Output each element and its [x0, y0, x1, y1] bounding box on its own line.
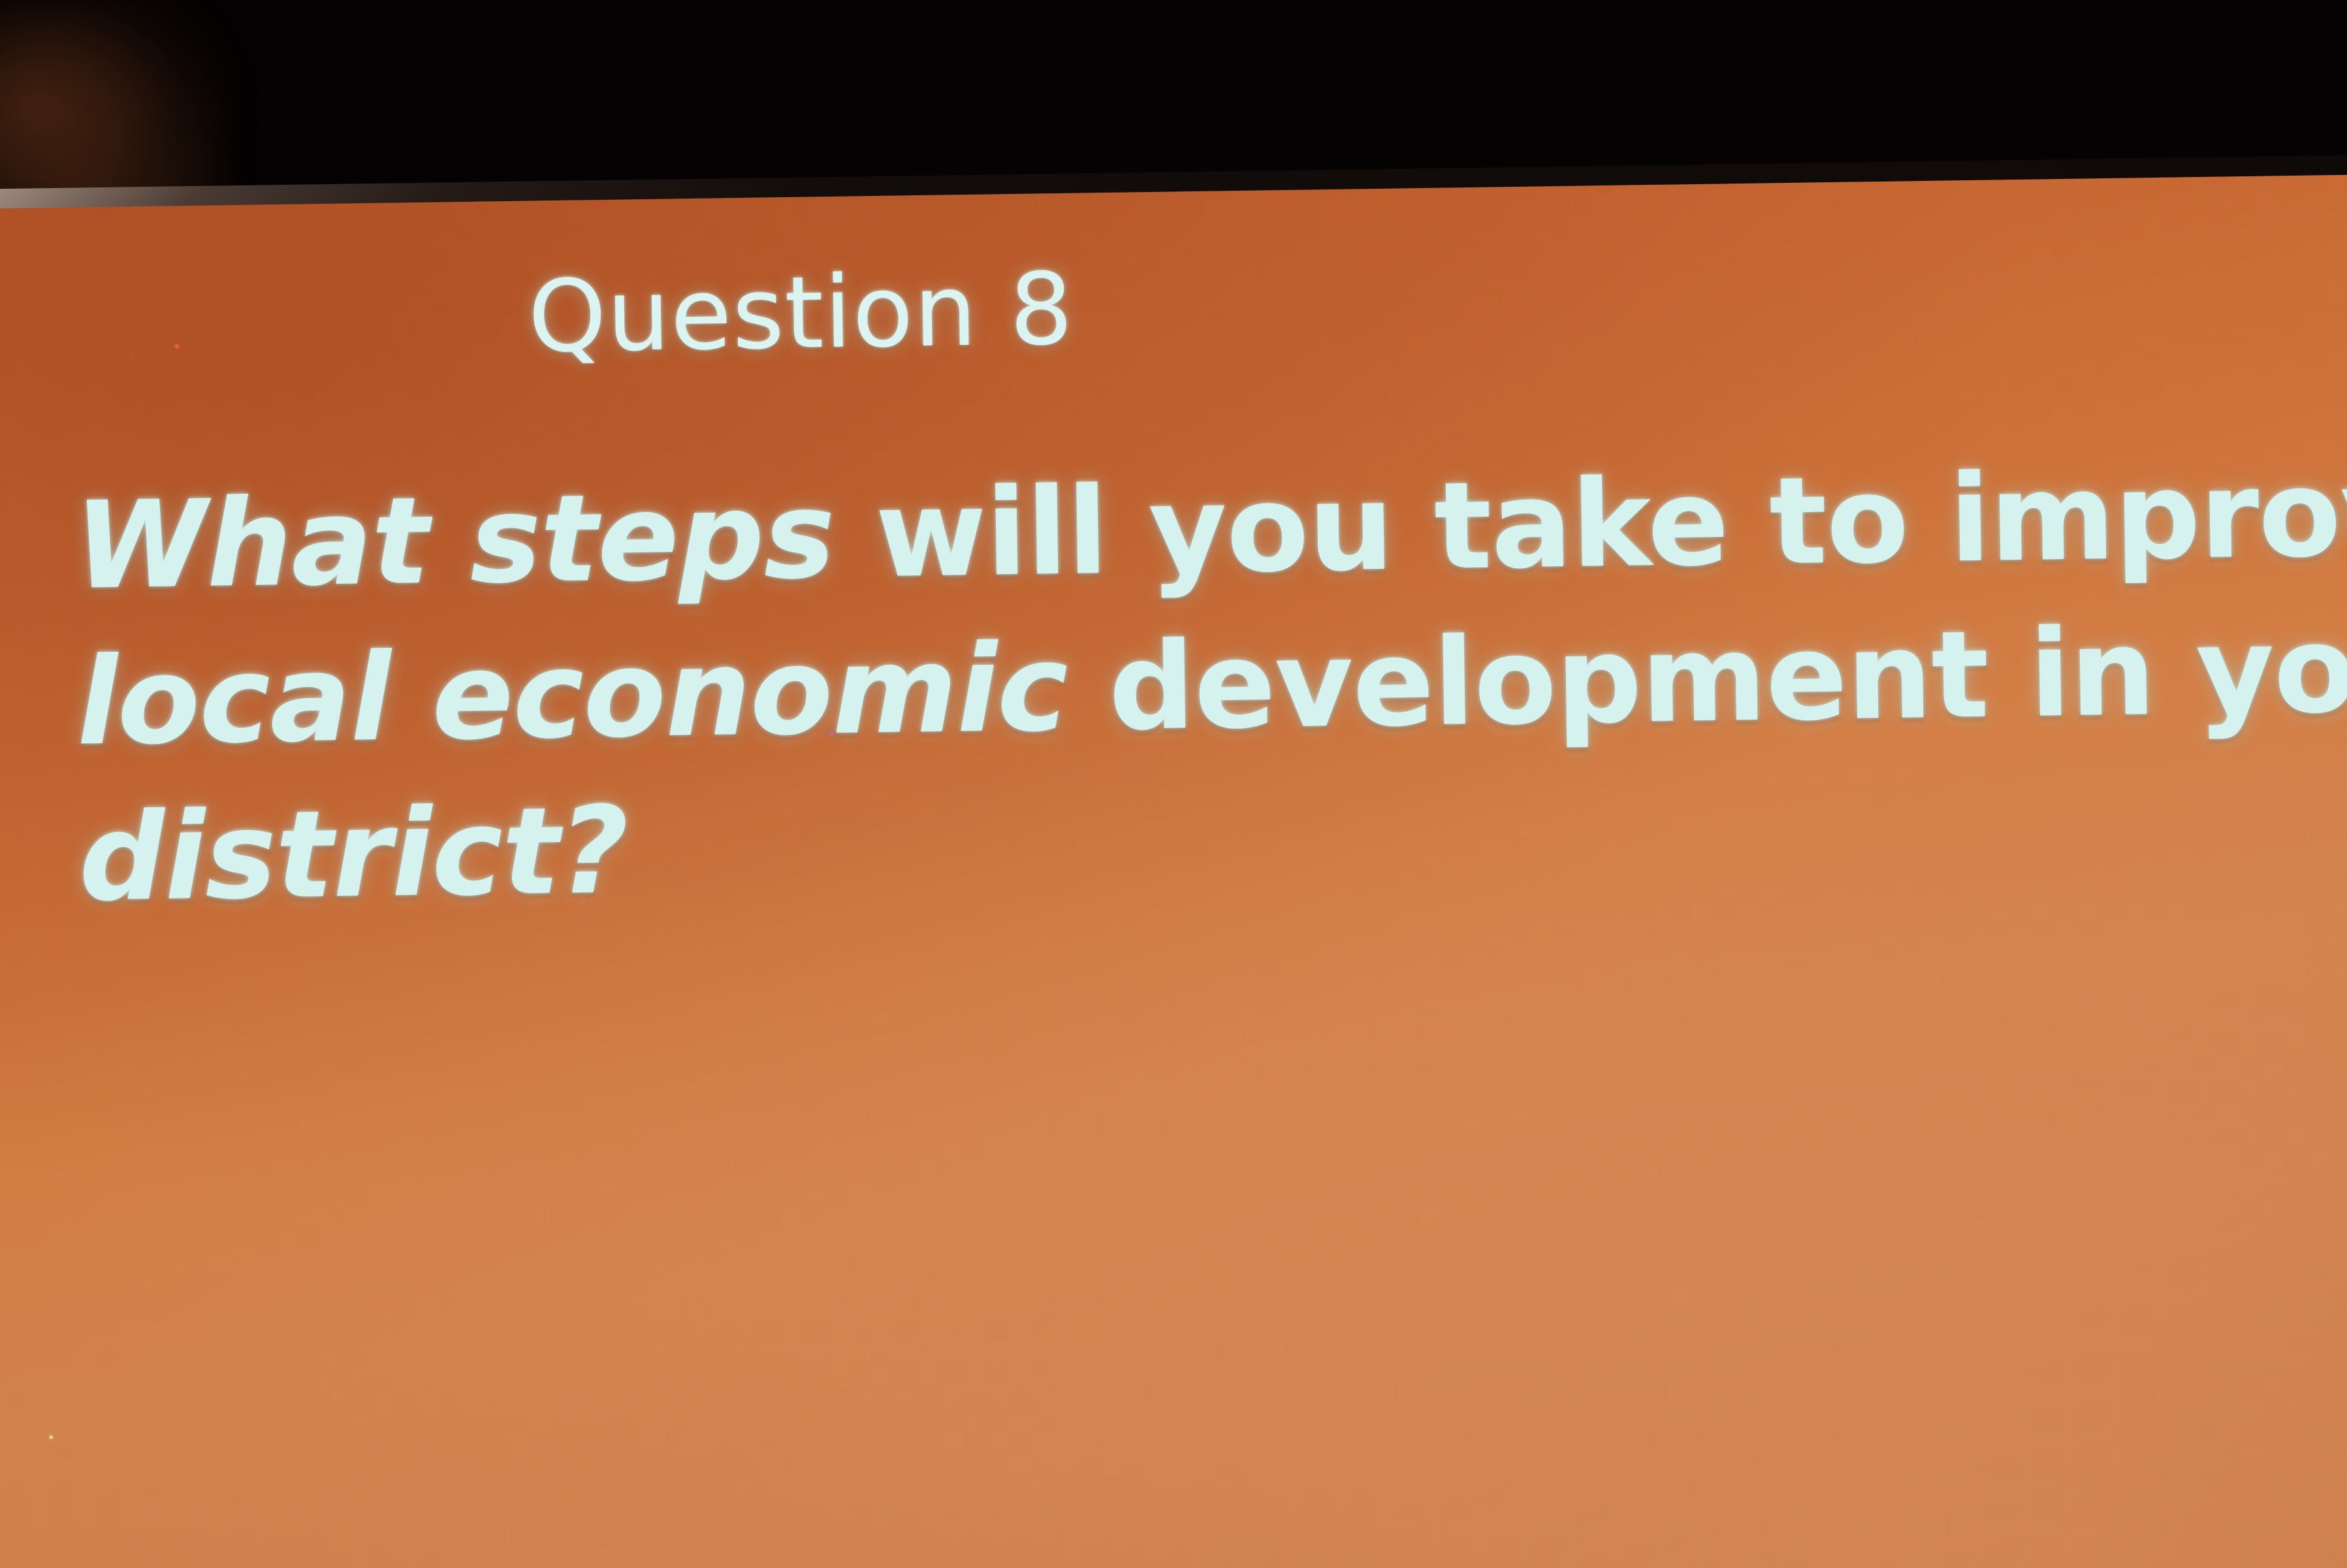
question-line-2: local economic development in your: [76, 592, 2347, 781]
question-line-1-segment-1: What steps: [74, 466, 836, 616]
question-line-1: What steps will you take to improve: [74, 436, 2347, 625]
question-line-2-segment-2: development in your: [1066, 598, 2347, 758]
question-line-2-segment-1: local economic: [76, 618, 1068, 773]
projection-screen: Question 8 What steps will you take to i…: [0, 153, 2347, 1568]
question-line-1-segment-2: will you take to improve: [833, 441, 2347, 605]
photograph-of-projected-slide: Question 8 What steps will you take to i…: [0, 0, 2347, 1568]
slide-surface: Question 8 What steps will you take to i…: [0, 173, 2347, 1568]
slide-content: Question 8 What steps will you take to i…: [0, 173, 2347, 1568]
slide-title: Question 8: [0, 234, 2347, 379]
question-line-3-segment-1: district?: [78, 781, 630, 929]
slide-question-text: What steps will you take to improve loca…: [74, 436, 2347, 937]
question-line-3: district?: [78, 748, 2347, 937]
